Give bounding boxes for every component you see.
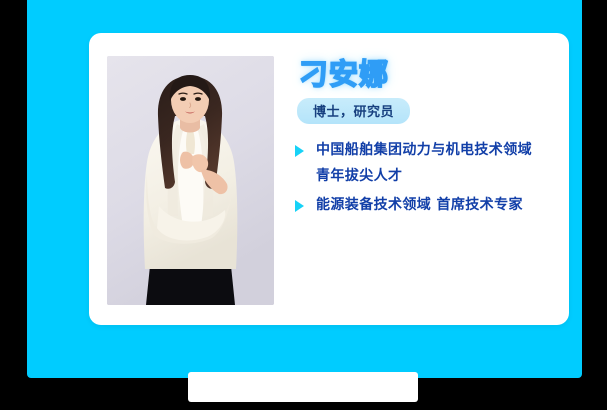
profile-card: 刁安娜 博士，研究员 中国船舶集团动力与机电技术领域 青年拔尖人才 能源装备技术… — [89, 33, 569, 325]
person-name: 刁安娜 — [299, 59, 556, 89]
profile-info: 刁安娜 博士，研究员 中国船舶集团动力与机电技术领域 青年拔尖人才 能源装备技术… — [294, 59, 556, 220]
credentials-list: 中国船舶集团动力与机电技术领域 青年拔尖人才 能源装备技术领域 首席技术专家 — [294, 137, 556, 217]
list-item: 中国船舶集团动力与机电技术领域 青年拔尖人才 — [294, 137, 556, 189]
title-badge-row: 博士，研究员 — [297, 98, 556, 124]
list-item: 能源装备技术领域 首席技术专家 — [294, 192, 556, 218]
cyan-frame-card: 刁安娜 博士，研究员 中国船舶集团动力与机电技术领域 青年拔尖人才 能源装备技术… — [27, 0, 582, 378]
triangle-right-icon — [295, 145, 304, 157]
triangle-right-icon — [295, 200, 304, 212]
credential-line: 青年拔尖人才 — [316, 163, 556, 189]
credential-line: 中国船舶集团动力与机电技术领域 — [316, 137, 556, 163]
status-badge: 博士，研究员 — [297, 98, 410, 124]
bottom-plate — [188, 372, 418, 402]
credential-line: 能源装备技术领域 首席技术专家 — [316, 192, 556, 218]
portrait-photo — [107, 56, 274, 305]
